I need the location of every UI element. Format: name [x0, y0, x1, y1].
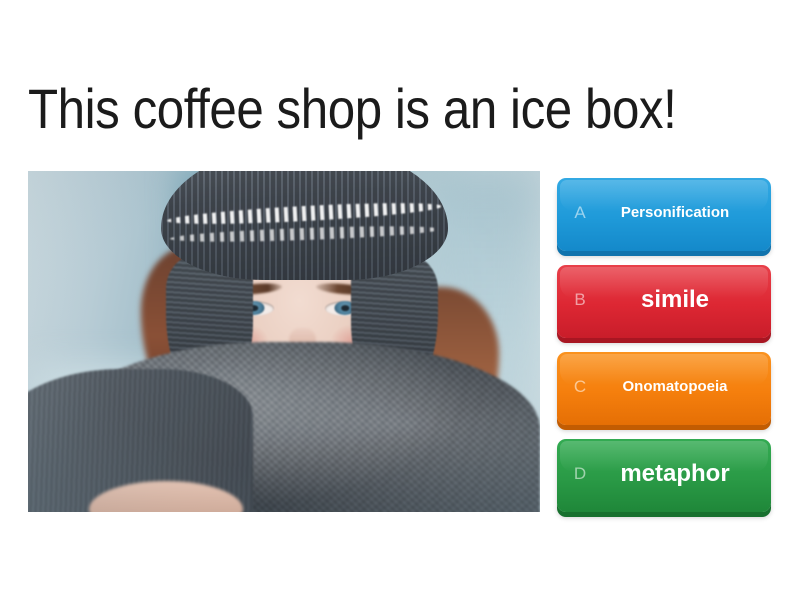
answer-label-b: simile	[593, 287, 761, 312]
answer-option-a[interactable]: A Personification	[557, 178, 771, 251]
answer-option-b[interactable]: B simile	[557, 265, 771, 338]
winter-photo	[28, 171, 540, 512]
pupil	[341, 305, 349, 311]
answer-letter-a: A	[567, 204, 593, 221]
question-title: This coffee shop is an ice box!	[28, 74, 686, 144]
answer-options: A Personification B simile C Onomatopoei…	[557, 178, 771, 512]
question-image	[28, 171, 540, 512]
knit-hat	[161, 171, 448, 280]
answer-label-c: Onomatopoeia	[593, 379, 761, 395]
answer-option-d[interactable]: D metaphor	[557, 439, 771, 512]
answer-label-d: metaphor	[593, 461, 761, 486]
answer-letter-d: D	[567, 465, 593, 482]
answer-label-a: Personification	[593, 205, 761, 221]
answer-letter-b: B	[567, 291, 593, 308]
answer-option-c[interactable]: C Onomatopoeia	[557, 352, 771, 425]
quiz-slide: This coffee shop is an ice box!	[0, 0, 800, 600]
answer-letter-c: C	[567, 378, 593, 395]
